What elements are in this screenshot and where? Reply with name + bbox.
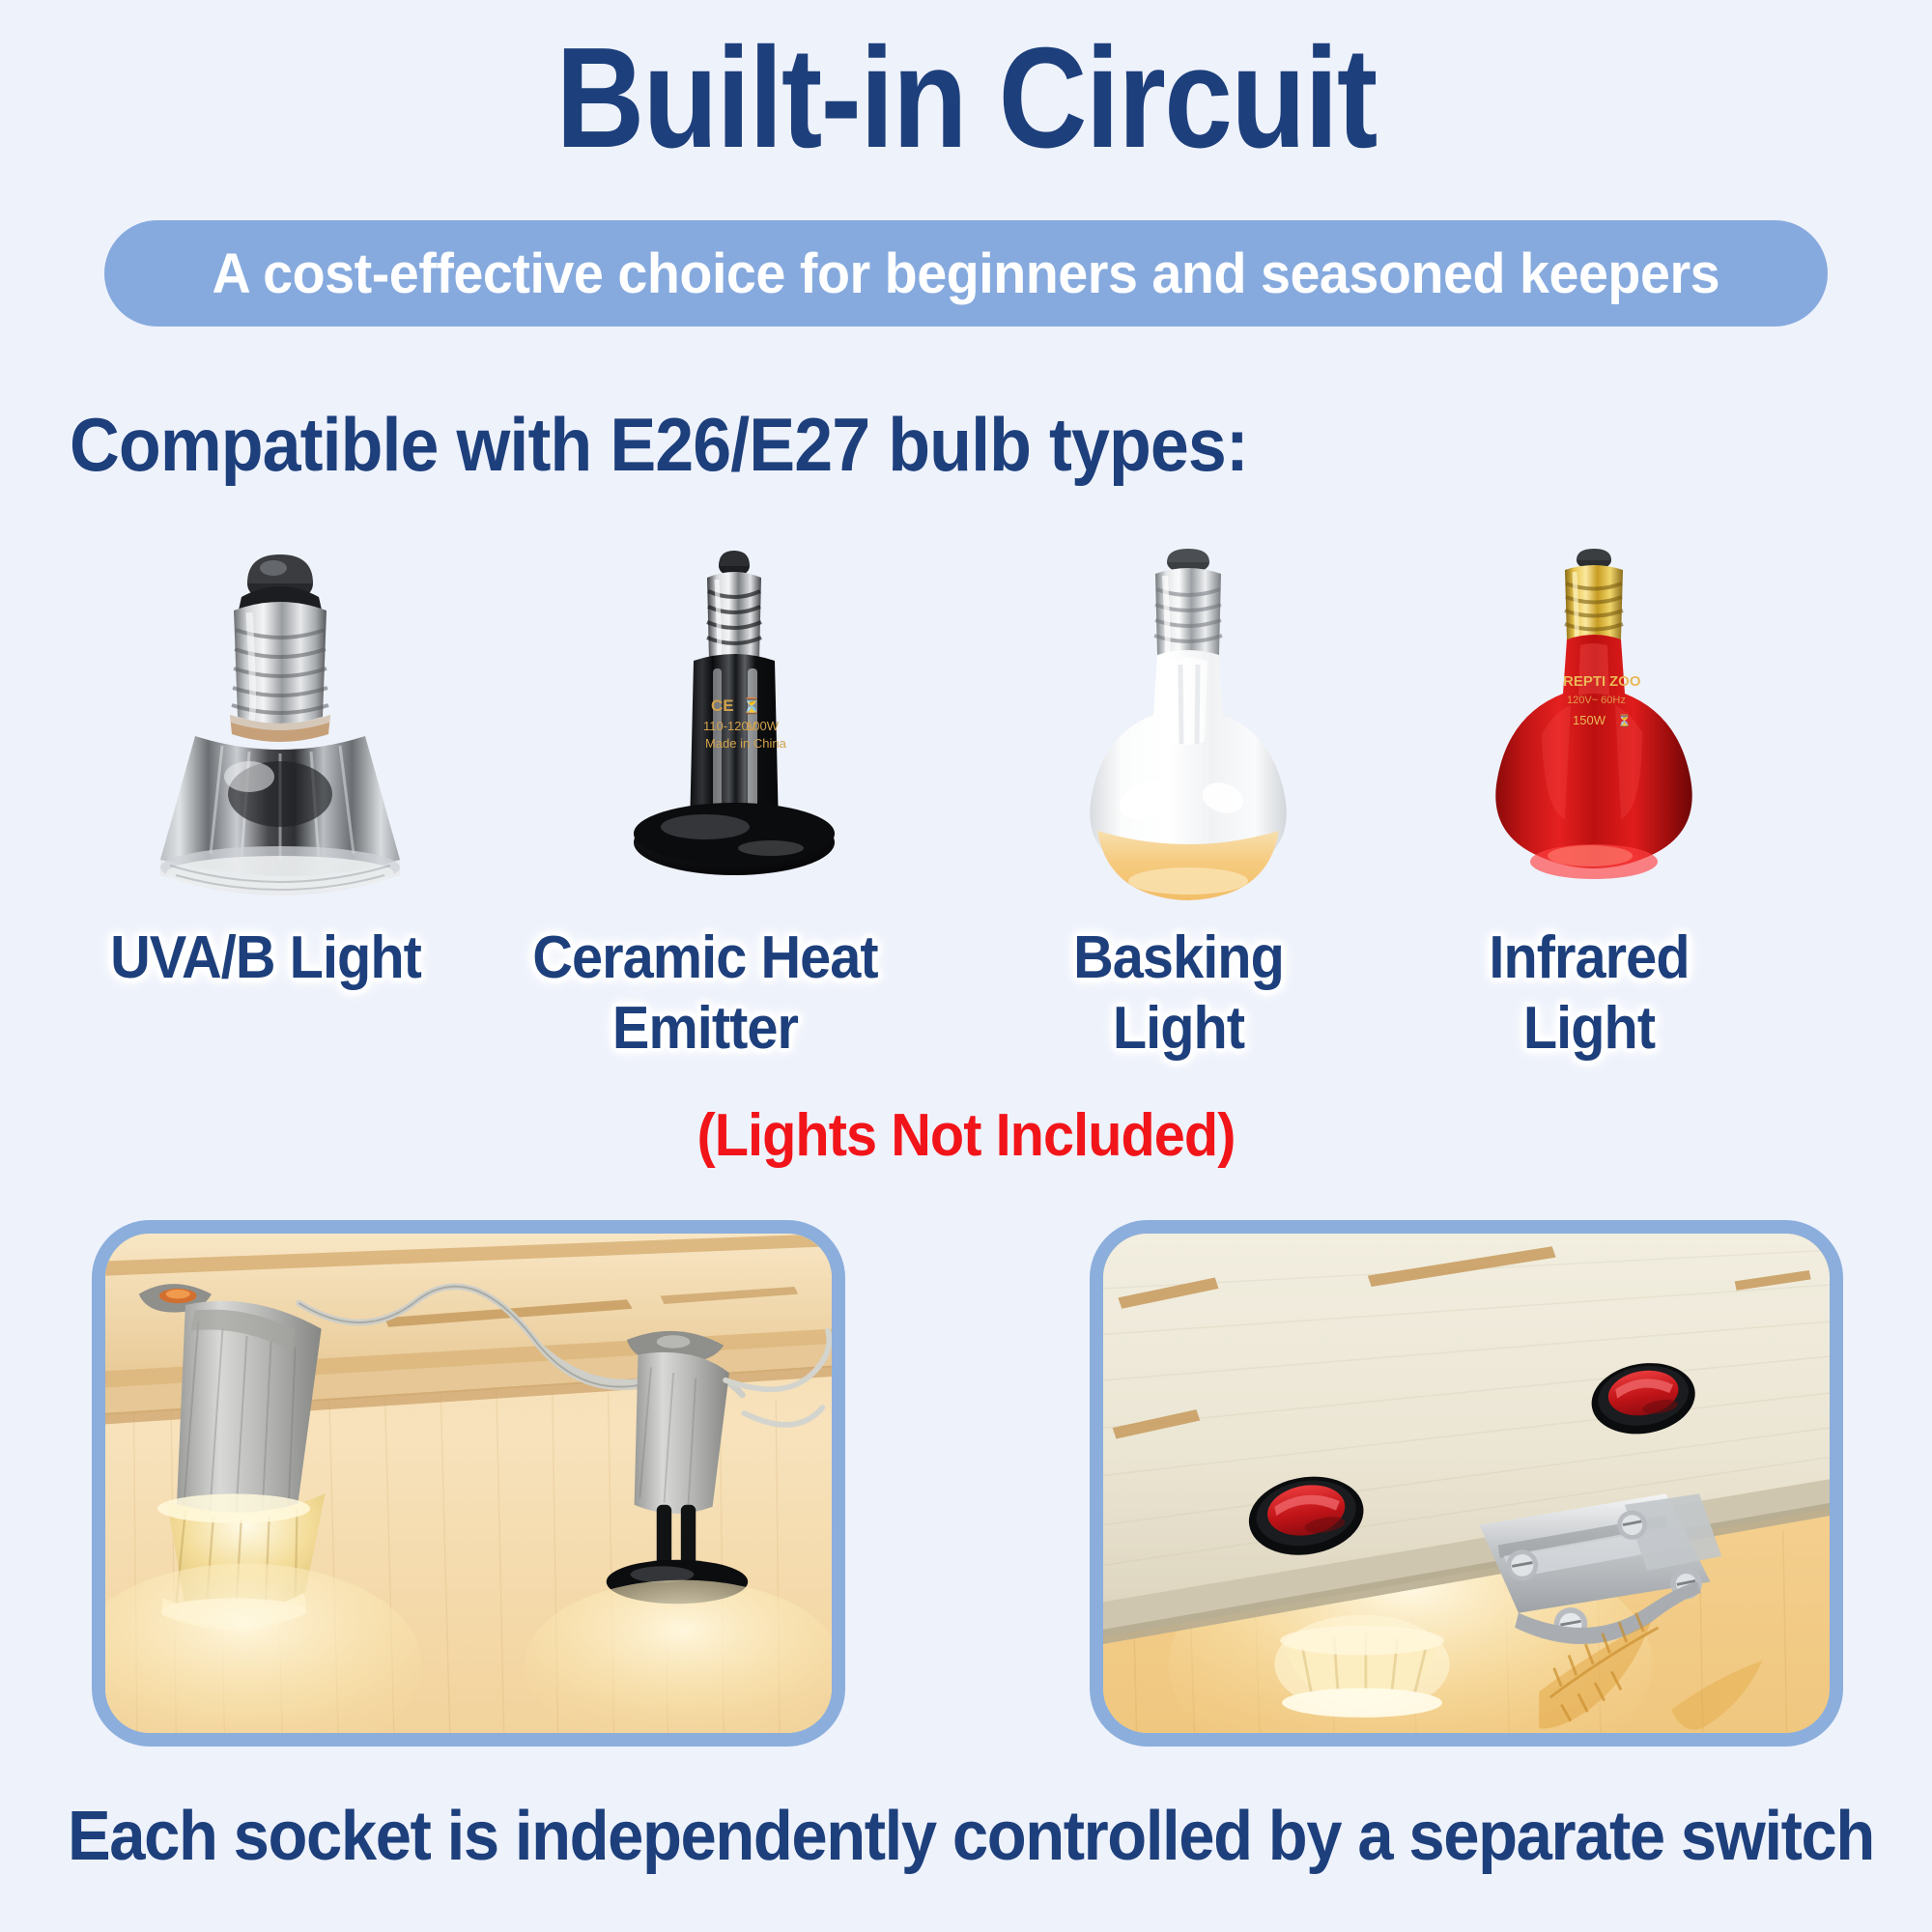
svg-text:100W: 100W [746, 719, 780, 733]
uva-b-halogen-bulb-icon [87, 541, 473, 908]
ceramic-heat-emitter-icon: CE ⏳ 110-120V 100W Made in China [541, 541, 927, 908]
infographic-page: Built-in Circuit A cost-effective choice… [0, 0, 1932, 1932]
svg-text:ZOO: ZOO [1609, 673, 1641, 690]
svg-text:150W: 150W [1573, 713, 1606, 727]
svg-text:CE: CE [711, 696, 734, 715]
bulb-item-basking [995, 541, 1381, 908]
lit-bulb-under-lid [1274, 1615, 1449, 1718]
bulb-label-uvab: UVA/B Light [68, 923, 463, 993]
sockets-photo-panel [92, 1220, 845, 1747]
independent-rocker-switches-photo [1103, 1234, 1830, 1733]
compatibility-heading: Compatible with E26/E27 bulb types: [70, 401, 1248, 489]
switches-photo-panel [1090, 1220, 1843, 1747]
footer-caption: Each socket is independently controlled … [68, 1797, 1864, 1876]
bulb-item-ceramic: CE ⏳ 110-120V 100W Made in China [541, 541, 927, 908]
svg-text:⏳: ⏳ [1617, 714, 1632, 727]
svg-text:REPTI: REPTI [1563, 673, 1605, 690]
two-sockets-under-wood-lid-photo [105, 1234, 832, 1733]
bulb-label-basking: Basking Light [980, 923, 1376, 1064]
subtitle-text: A cost-effective choice for beginners an… [213, 241, 1720, 306]
lights-not-included-note: (Lights Not Included) [68, 1101, 1864, 1170]
bulb-item-infrared: REPTI ZOO 120V~ 60Hz 150W ⏳ [1401, 541, 1787, 908]
svg-text:⏳: ⏳ [742, 696, 761, 715]
bulb-labels-row: UVA/B Light Ceramic Heat Emitter Basking… [0, 923, 1932, 1106]
infrared-bulb-icon: REPTI ZOO 120V~ 60Hz 150W ⏳ [1401, 541, 1787, 908]
page-title: Built-in Circuit [135, 27, 1797, 170]
svg-text:120V~ 60Hz: 120V~ 60Hz [1567, 695, 1626, 706]
bulb-label-ceramic: Ceramic Heat Emitter [507, 923, 902, 1064]
svg-text:Made in China: Made in China [705, 736, 787, 751]
bulb-label-infrared: Infrared Light [1391, 923, 1786, 1064]
bulb-item-uvab [87, 541, 473, 908]
bulb-gallery: CE ⏳ 110-120V 100W Made in China [0, 541, 1932, 927]
subtitle-pill: A cost-effective choice for beginners an… [104, 220, 1828, 327]
basking-bulb-icon [995, 541, 1381, 908]
